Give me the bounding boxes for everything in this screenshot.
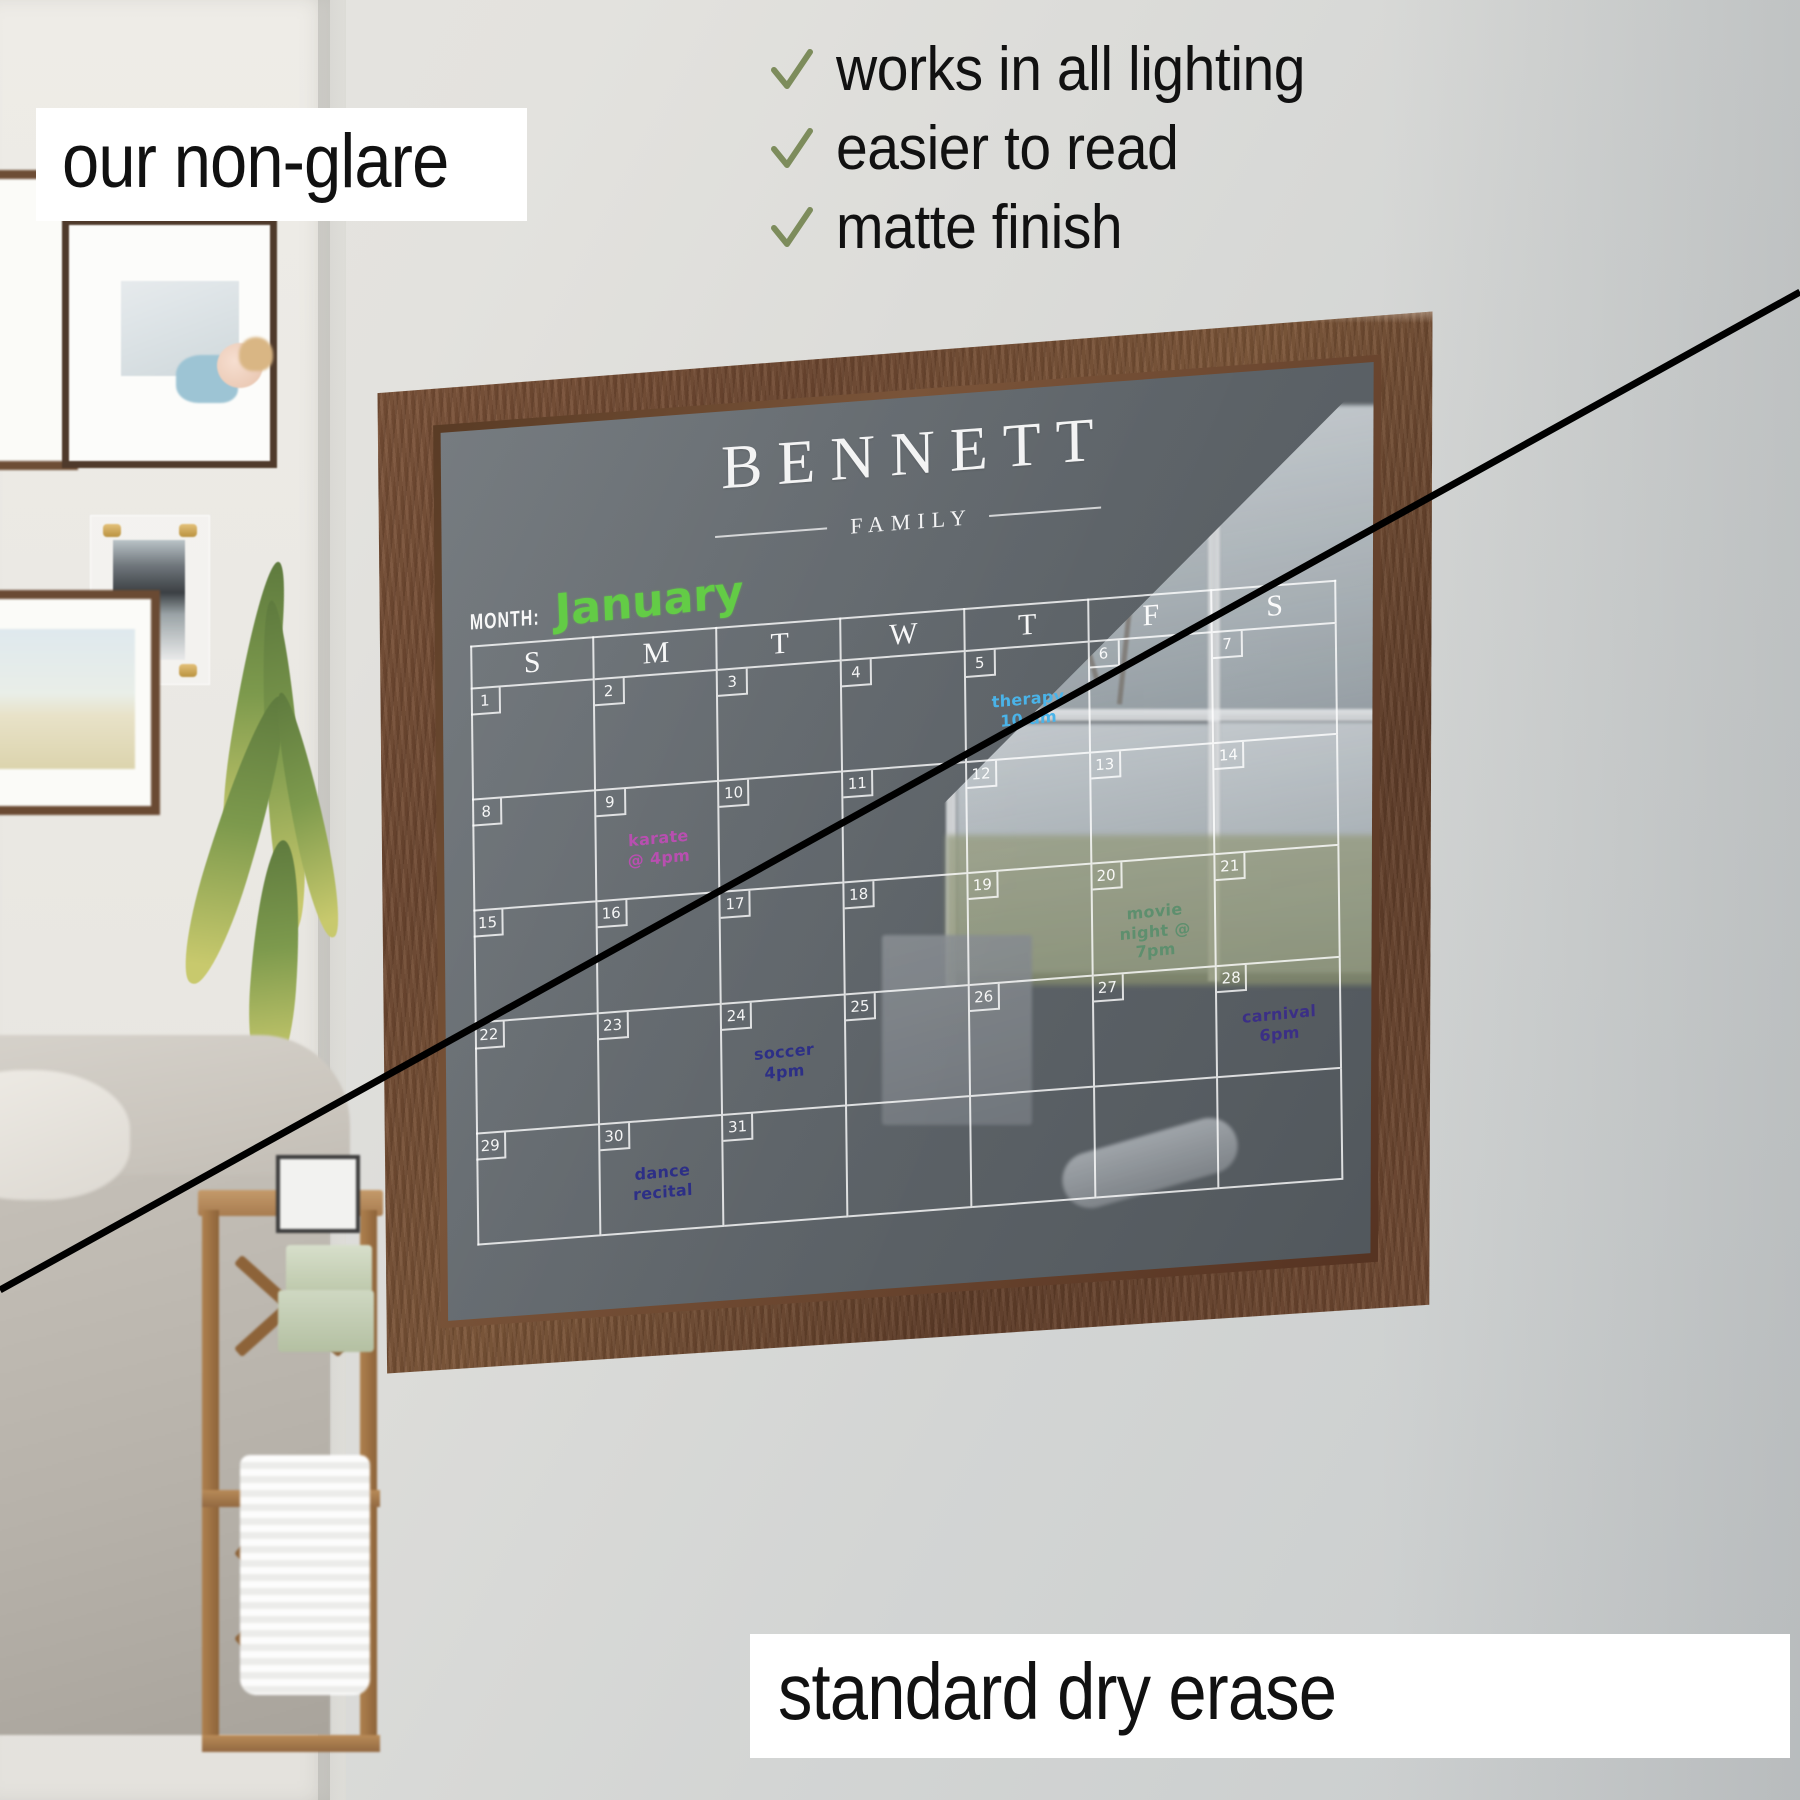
date-number: 5 <box>966 650 996 678</box>
gallery-frame-landscape-art <box>0 590 160 815</box>
woven-basket <box>240 1455 370 1695</box>
month-label: MONTH: <box>470 604 540 635</box>
tabletop-picture-frame <box>276 1155 360 1233</box>
framed-dry-erase-calendar: BENNETT FAMILY MONTH: January SMTWTFS123… <box>370 305 1440 1380</box>
calendar-cell[interactable] <box>1218 1068 1343 1189</box>
movie-night-entry: movienight @ 7pm <box>1102 897 1207 965</box>
feature-text-1: easier to read <box>836 113 1178 184</box>
date-number: 28 <box>1217 964 1247 992</box>
baby-photo <box>121 281 239 376</box>
date-number: 16 <box>597 900 627 928</box>
product-comparison-image: BENNETT FAMILY MONTH: January SMTWTFS123… <box>0 0 1800 1800</box>
feature-item-0: works in all lighting <box>770 34 1780 105</box>
date-number: 18 <box>845 882 875 910</box>
date-number: 12 <box>967 761 997 789</box>
feature-list: works in all lighting easier to read mat… <box>770 34 1780 271</box>
calendar-board-surface: BENNETT FAMILY MONTH: January SMTWTFS123… <box>370 305 1440 1380</box>
calendar-cell[interactable] <box>1095 1078 1220 1199</box>
date-number: 20 <box>1092 863 1122 891</box>
date-number: 6 <box>1089 640 1119 668</box>
carnival-entry-line2: 6pm <box>1259 1022 1300 1045</box>
date-number: 1 <box>471 687 501 715</box>
date-number: 21 <box>1216 853 1246 881</box>
date-number: 29 <box>476 1132 506 1160</box>
date-number: 31 <box>723 1113 753 1141</box>
non-glare-label-text: our non-glare <box>62 118 448 205</box>
date-number: 24 <box>722 1002 752 1030</box>
calendar-printed-design: BENNETT FAMILY MONTH: January SMTWTFS123… <box>370 305 1440 1380</box>
subtitle-rule-right <box>989 507 1101 518</box>
calendar-cell[interactable] <box>971 1087 1096 1208</box>
date-number: 3 <box>718 669 748 697</box>
date-number: 25 <box>846 993 876 1021</box>
acrylic-stud <box>179 524 197 537</box>
date-number: 8 <box>472 799 502 827</box>
landscape-artwork <box>0 629 135 769</box>
side-table-leg <box>202 1210 219 1750</box>
acrylic-stud <box>179 664 197 677</box>
date-number: 11 <box>843 770 873 798</box>
feature-item-1: easier to read <box>770 113 1780 184</box>
decor-box <box>278 1290 374 1352</box>
date-number: 4 <box>842 659 872 687</box>
date-number: 19 <box>968 872 998 900</box>
date-number: 30 <box>600 1123 630 1151</box>
check-icon <box>770 123 814 175</box>
date-number: 22 <box>475 1021 505 1049</box>
acrylic-stud <box>103 524 121 537</box>
feature-text-2: matte finish <box>836 192 1122 263</box>
date-number: 14 <box>1214 742 1244 770</box>
standard-dry-erase-label-text: standard dry erase <box>778 1646 1336 1738</box>
date-number: 23 <box>598 1012 628 1040</box>
date-number: 9 <box>596 789 626 817</box>
calendar-grid: SMTWTFS123456789101112131415161718192021… <box>470 580 1343 1246</box>
calendar-cell[interactable] <box>847 1097 972 1218</box>
check-icon <box>770 44 814 96</box>
gallery-frame-baby-photo <box>62 218 277 468</box>
standard-dry-erase-label: standard dry erase <box>750 1634 1790 1758</box>
movie-night-entry-line2: night @ 7pm <box>1119 918 1191 962</box>
date-number: 2 <box>594 678 624 706</box>
date-number: 17 <box>721 891 751 919</box>
feature-text-0: works in all lighting <box>836 34 1305 105</box>
side-table-shelf <box>202 1735 380 1752</box>
decor-box-small <box>286 1245 372 1293</box>
baby-photo-hair <box>239 337 273 371</box>
feature-item-2: matte finish <box>770 192 1780 263</box>
date-number: 7 <box>1213 631 1243 659</box>
date-number: 15 <box>473 910 503 938</box>
date-number: 26 <box>970 983 1000 1011</box>
non-glare-label: our non-glare <box>36 108 527 221</box>
subtitle-rule-left <box>715 527 827 538</box>
date-number: 27 <box>1093 974 1123 1002</box>
family-word: FAMILY <box>843 504 973 540</box>
date-number: 13 <box>1091 751 1121 779</box>
soccer-entry-line2: 4pm <box>765 1059 806 1082</box>
date-number: 10 <box>719 780 749 808</box>
check-icon <box>770 202 814 254</box>
